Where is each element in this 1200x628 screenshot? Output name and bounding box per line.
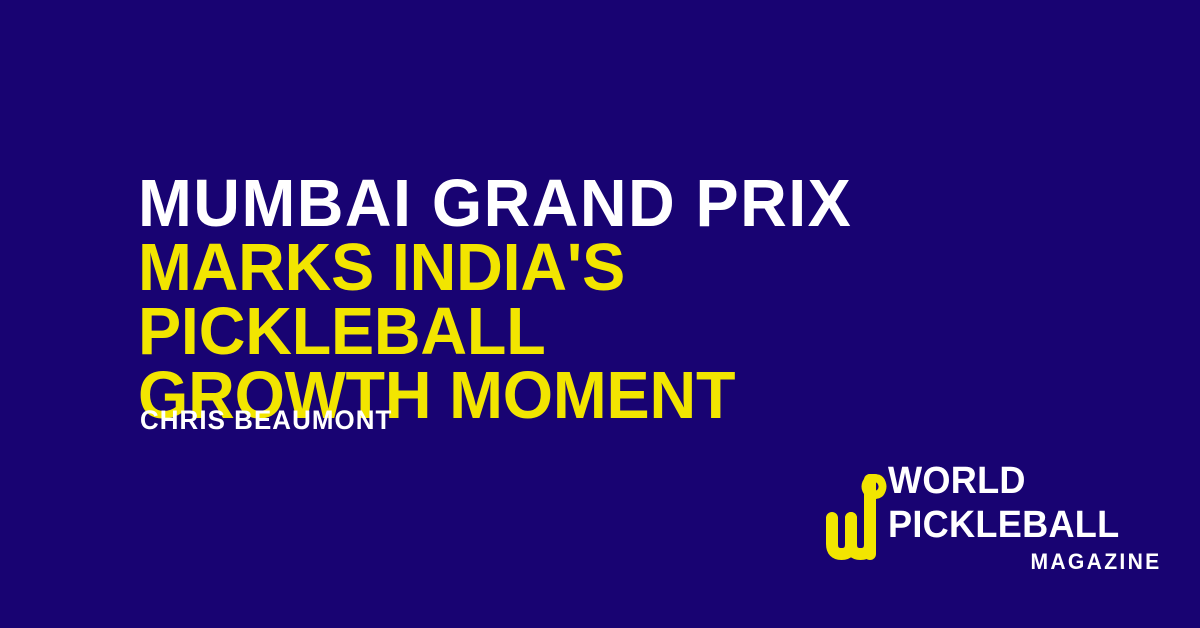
brand-logo-lockup: WORLD PICKLEBALL MAGAZINE: [826, 460, 1162, 566]
byline-author: CHRIS BEAUMONT: [140, 407, 392, 434]
logo-wordmark: WORLD PICKLEBALL MAGAZINE: [884, 462, 1162, 573]
headline-line-2: MARKS INDIA'S: [138, 236, 1103, 300]
logo-word-magazine: MAGAZINE: [1031, 551, 1162, 573]
wp-monogram-icon: [826, 462, 884, 566]
logo-word-pickleball: PICKLEBALL: [888, 506, 1119, 544]
logo-word-world: WORLD: [888, 462, 1026, 500]
headline-block: MUMBAI GRAND PRIX MARKS INDIA'S PICKLEBA…: [138, 172, 1138, 428]
headline-line-3: PICKLEBALL: [138, 300, 1103, 364]
social-share-card: MUMBAI GRAND PRIX MARKS INDIA'S PICKLEBA…: [0, 0, 1200, 628]
headline-line-1: MUMBAI GRAND PRIX: [138, 172, 1103, 236]
